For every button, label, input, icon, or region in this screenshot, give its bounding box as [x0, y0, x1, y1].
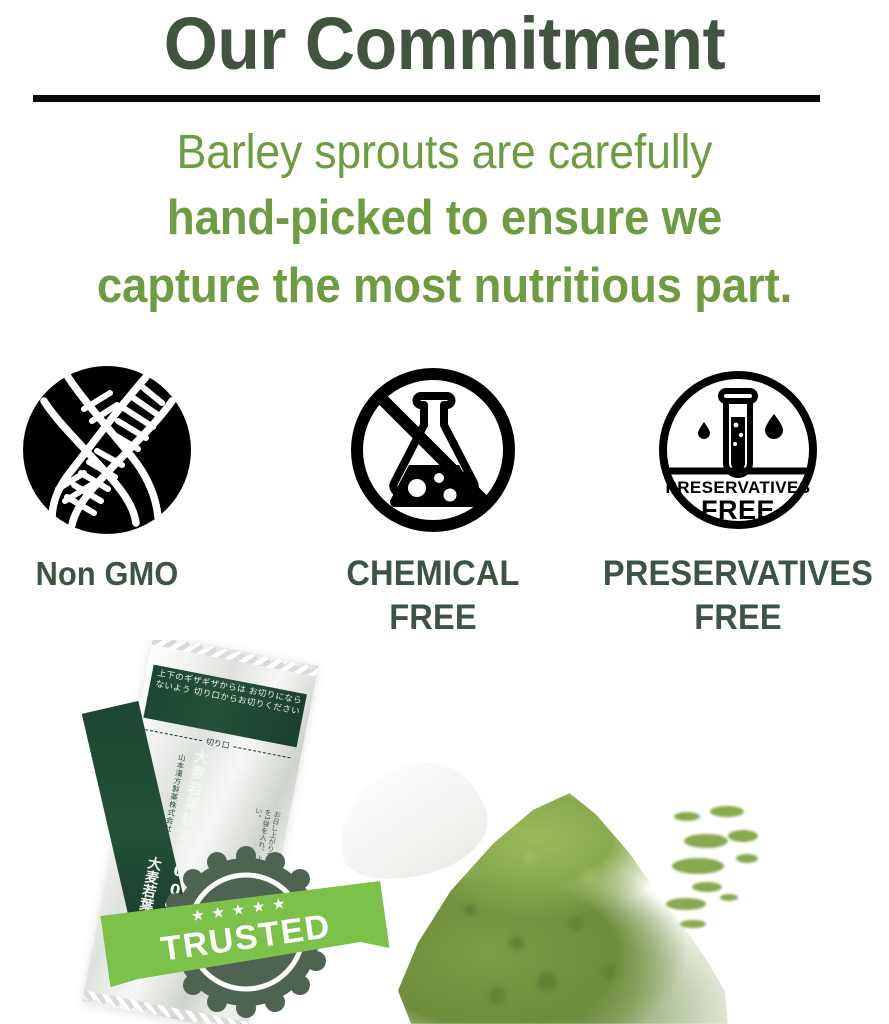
- infographic-root: Our Commitment Barley sprouts are carefu…: [0, 0, 889, 1024]
- product-photo: 上下のギザギザからは お切りにならないよう 切り口からお切りください 切り口 大…: [0, 640, 889, 1024]
- title-divider-rule: [33, 95, 820, 102]
- badge-preservatives-free: PRESERVATIVES FREE PRESERVATIVES FREE: [590, 360, 886, 640]
- badge-chemical-free: CHEMICAL FREE: [285, 360, 581, 640]
- subheading-line-2: hand-picked to ensure we: [31, 184, 858, 252]
- subheading-line-1: Barley sprouts are carefully: [31, 122, 858, 184]
- subheading-line-3: capture the most nutritious part.: [31, 252, 858, 320]
- barley-grass-powder-pile: [398, 768, 828, 1024]
- badge-non-gmo: Non GMO: [0, 360, 255, 596]
- badge-label-preservatives-free: PRESERVATIVES FREE: [600, 552, 875, 640]
- certification-badge-row: Non GMO CHEMICAL FREE: [0, 360, 889, 660]
- page-title: Our Commitment: [27, 2, 863, 86]
- preservatives-free-test-tube-icon: PRESERVATIVES FREE: [590, 360, 886, 540]
- subheading-block: Barley sprouts are carefully hand-picked…: [0, 122, 889, 320]
- preservatives-badge-line-2: FREE: [701, 495, 775, 525]
- no-chemical-flask-icon: [285, 360, 581, 540]
- powder-scatter: [666, 802, 816, 952]
- badge-label-non-gmo: Non GMO: [0, 552, 245, 596]
- trusted-seal: ★★★★★ TRUSTED: [138, 840, 353, 1024]
- dna-helix-icon: [0, 360, 255, 540]
- badge-label-chemical-free: CHEMICAL FREE: [295, 552, 570, 640]
